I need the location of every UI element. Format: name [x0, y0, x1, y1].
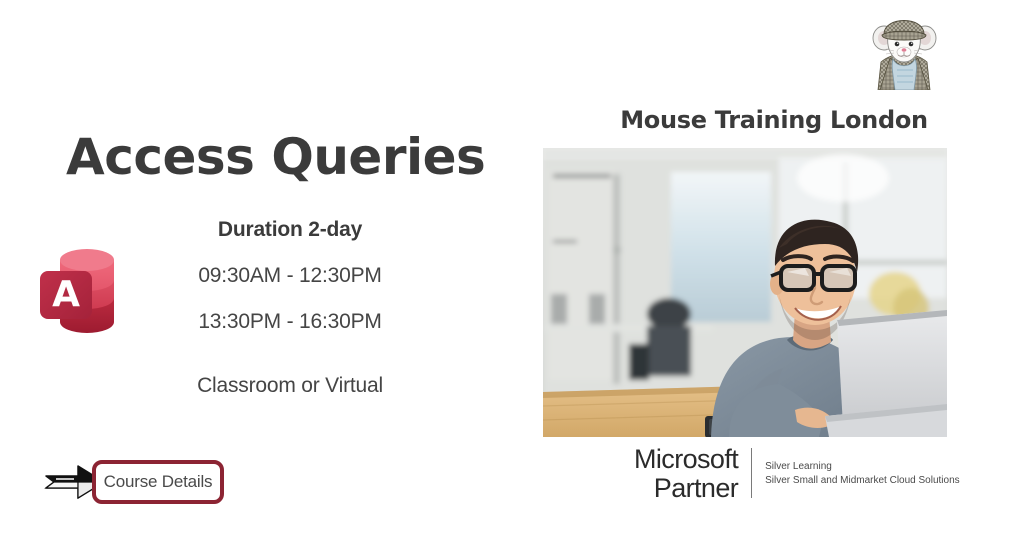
- course-details-button-label: Course Details: [104, 472, 213, 492]
- microsoft-partner-logo: Microsoft Partner Silver Learning Silver…: [634, 446, 960, 502]
- svg-text:A: A: [52, 274, 80, 315]
- course-duration: Duration 2-day: [130, 218, 450, 242]
- course-details-button[interactable]: Course Details: [92, 460, 224, 504]
- course-delivery-mode: Classroom or Virtual: [130, 374, 450, 398]
- mouse-mascot-logo-icon: [864, 6, 944, 90]
- brand-name: Mouse Training London: [600, 106, 948, 134]
- partner-word: Partner: [634, 475, 738, 502]
- microsoft-access-icon: A: [28, 238, 132, 342]
- microsoft-partner-wordmark: Microsoft Partner: [634, 446, 751, 502]
- course-session-morning: 09:30AM - 12:30PM: [130, 264, 450, 288]
- partner-competencies: Silver Learning Silver Small and Midmark…: [752, 446, 960, 502]
- course-info-block: Duration 2-day 09:30AM - 12:30PM 13:30PM…: [130, 218, 450, 398]
- hero-photo: [543, 148, 947, 437]
- course-session-afternoon: 13:30PM - 16:30PM: [130, 310, 450, 334]
- microsoft-word: Microsoft: [634, 446, 738, 473]
- page-title: Access Queries: [66, 128, 485, 186]
- competency-silver-learning: Silver Learning: [765, 460, 960, 475]
- competency-smb-cloud: Silver Small and Midmarket Cloud Solutio…: [765, 474, 960, 489]
- course-promo-slide: Access Queries: [0, 0, 1024, 536]
